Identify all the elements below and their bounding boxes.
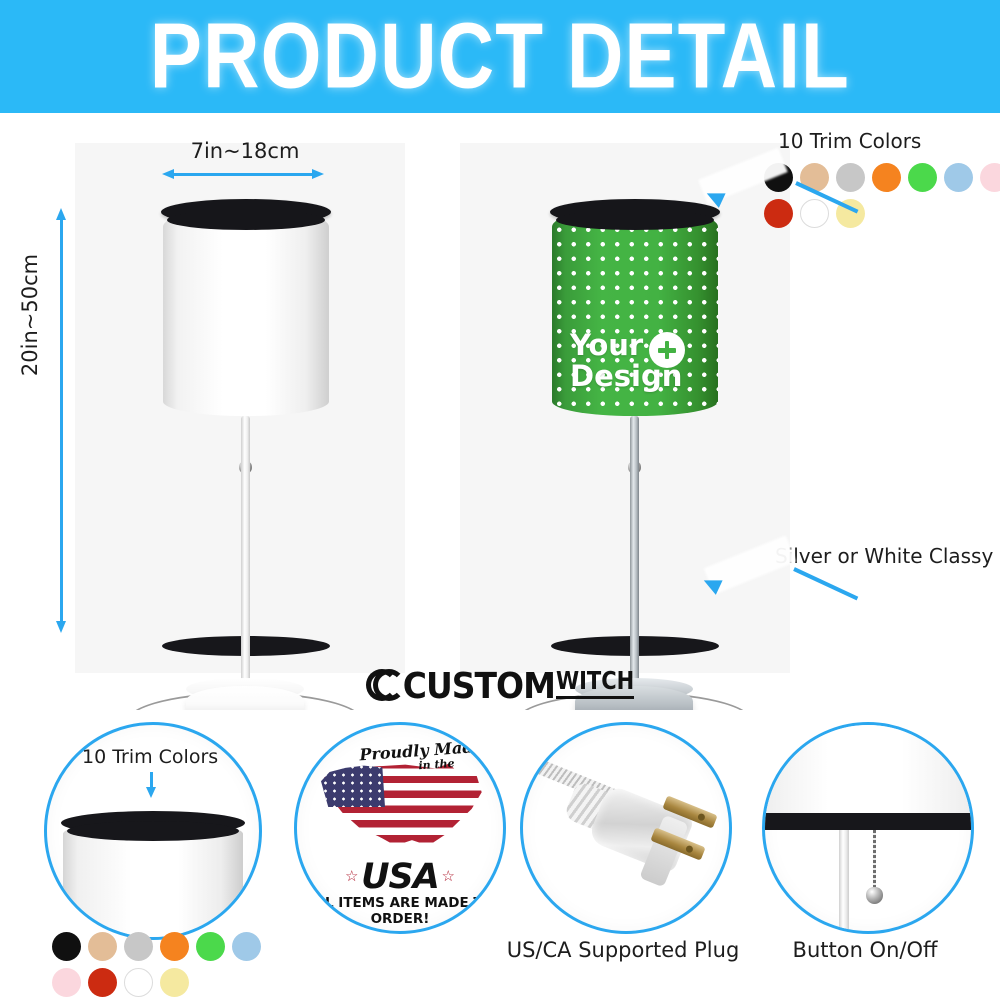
panel-plug: [520, 722, 732, 934]
design-line-1: Your: [570, 328, 643, 362]
page-title: PRODUCT DETAIL: [150, 3, 850, 109]
swatch-light-blue[interactable]: [232, 932, 261, 961]
brand-name-bold: CUSTOM: [403, 664, 555, 706]
arrow-shaft: [60, 218, 63, 623]
swatch-tan[interactable]: [88, 932, 117, 961]
lamp-shade-green: Your Design: [552, 208, 718, 416]
panel-button-caption: Button On/Off: [742, 938, 988, 962]
swatch-red[interactable]: [88, 968, 117, 997]
infographic-stage: PRODUCT DETAIL 7in~18cm 20in~50cm: [0, 0, 1000, 1000]
arrow-shaft: [172, 173, 314, 176]
brand-name-light: WITCH: [556, 669, 634, 694]
swatch-gray[interactable]: [836, 163, 865, 192]
trim-color-swatch-row-bottom: [52, 932, 272, 997]
swatch-pink[interactable]: [52, 968, 81, 997]
arrow-head-icon: [703, 186, 725, 208]
logo-ring-inner: [373, 669, 405, 701]
star-left-icon: ☆: [345, 867, 358, 885]
swatch-orange[interactable]: [872, 163, 901, 192]
logo-underline: [556, 696, 634, 699]
usa-badge: Proudly Made in the USA ☆ ☆ ALL ITEMS AR…: [297, 725, 503, 931]
trim-colors-arrow: [706, 167, 796, 207]
lamp-shade-white: [163, 208, 329, 416]
width-dimension-arrow: [162, 169, 324, 179]
swatch-white[interactable]: [124, 968, 153, 997]
main-photo-band: 7in~18cm 20in~50cm: [0, 113, 1000, 705]
lamp-pole: [839, 830, 849, 934]
swatch-green[interactable]: [908, 163, 937, 192]
trim-colors-down-arrow: [146, 772, 156, 798]
star-right-icon: ☆: [442, 867, 455, 885]
swatch-orange[interactable]: [160, 932, 189, 961]
base-finish-arrow: [704, 549, 794, 597]
shade-trim-black: [762, 813, 974, 830]
pull-chain: [873, 830, 876, 890]
arrow-head-bottom-icon: [56, 621, 66, 633]
panel-made-in-usa: Proudly Made in the USA ☆ ☆ ALL ITEMS AR…: [294, 722, 506, 934]
your-design-text: Your Design: [570, 330, 710, 392]
header-banner: PRODUCT DETAIL: [0, 0, 1000, 113]
usa-script-text: Proudly Made in the: [356, 739, 488, 778]
lamp-white-blank: [163, 208, 403, 648]
plus-icon: [649, 332, 685, 368]
brand-logo: CUSTOM WITCH: [0, 660, 1000, 710]
double-c-icon: [366, 667, 402, 703]
usa-subtitle: ALL ITEMS ARE MADE TO ORDER!: [297, 895, 503, 927]
trim-color-swatch-row-top: [764, 163, 1000, 228]
swatch-light-blue[interactable]: [944, 163, 973, 192]
pull-chain-ball-icon: [866, 887, 883, 904]
shade-trim-black: [61, 811, 245, 835]
width-dimension-label: 7in~18cm: [150, 139, 340, 163]
swatch-white[interactable]: [800, 199, 829, 228]
feature-panels: 10 Trim Colors Proudly Made in the USA ☆…: [0, 710, 1000, 1000]
swatch-gray[interactable]: [124, 932, 153, 961]
base-finish-callout-label: Silver or White Classy: [775, 544, 993, 568]
swatch-pink[interactable]: [980, 163, 1000, 192]
shade-bottom-edge: [762, 725, 974, 815]
trim-colors-callout-label: 10 Trim Colors: [778, 129, 921, 153]
height-dimension-label: 20in~50cm: [18, 225, 42, 405]
swatch-yellow[interactable]: [160, 968, 189, 997]
panel-button-onoff: [762, 722, 974, 934]
shade-trim-top: [161, 199, 331, 225]
swatch-green[interactable]: [196, 932, 225, 961]
usa-word: USA: [297, 857, 503, 897]
swatch-black[interactable]: [52, 932, 81, 961]
arrow-head-icon: [146, 787, 156, 798]
panel-plug-caption: US/CA Supported Plug: [500, 938, 746, 962]
height-dimension-arrow: [56, 208, 66, 633]
arrow-head-icon: [700, 573, 722, 595]
panel-trim-colors-label: 10 Trim Colors: [82, 746, 218, 768]
brand-name-light-wrap: WITCH: [556, 671, 634, 699]
shade-trim-top: [550, 199, 720, 225]
arrow-head-right-icon: [312, 169, 324, 179]
